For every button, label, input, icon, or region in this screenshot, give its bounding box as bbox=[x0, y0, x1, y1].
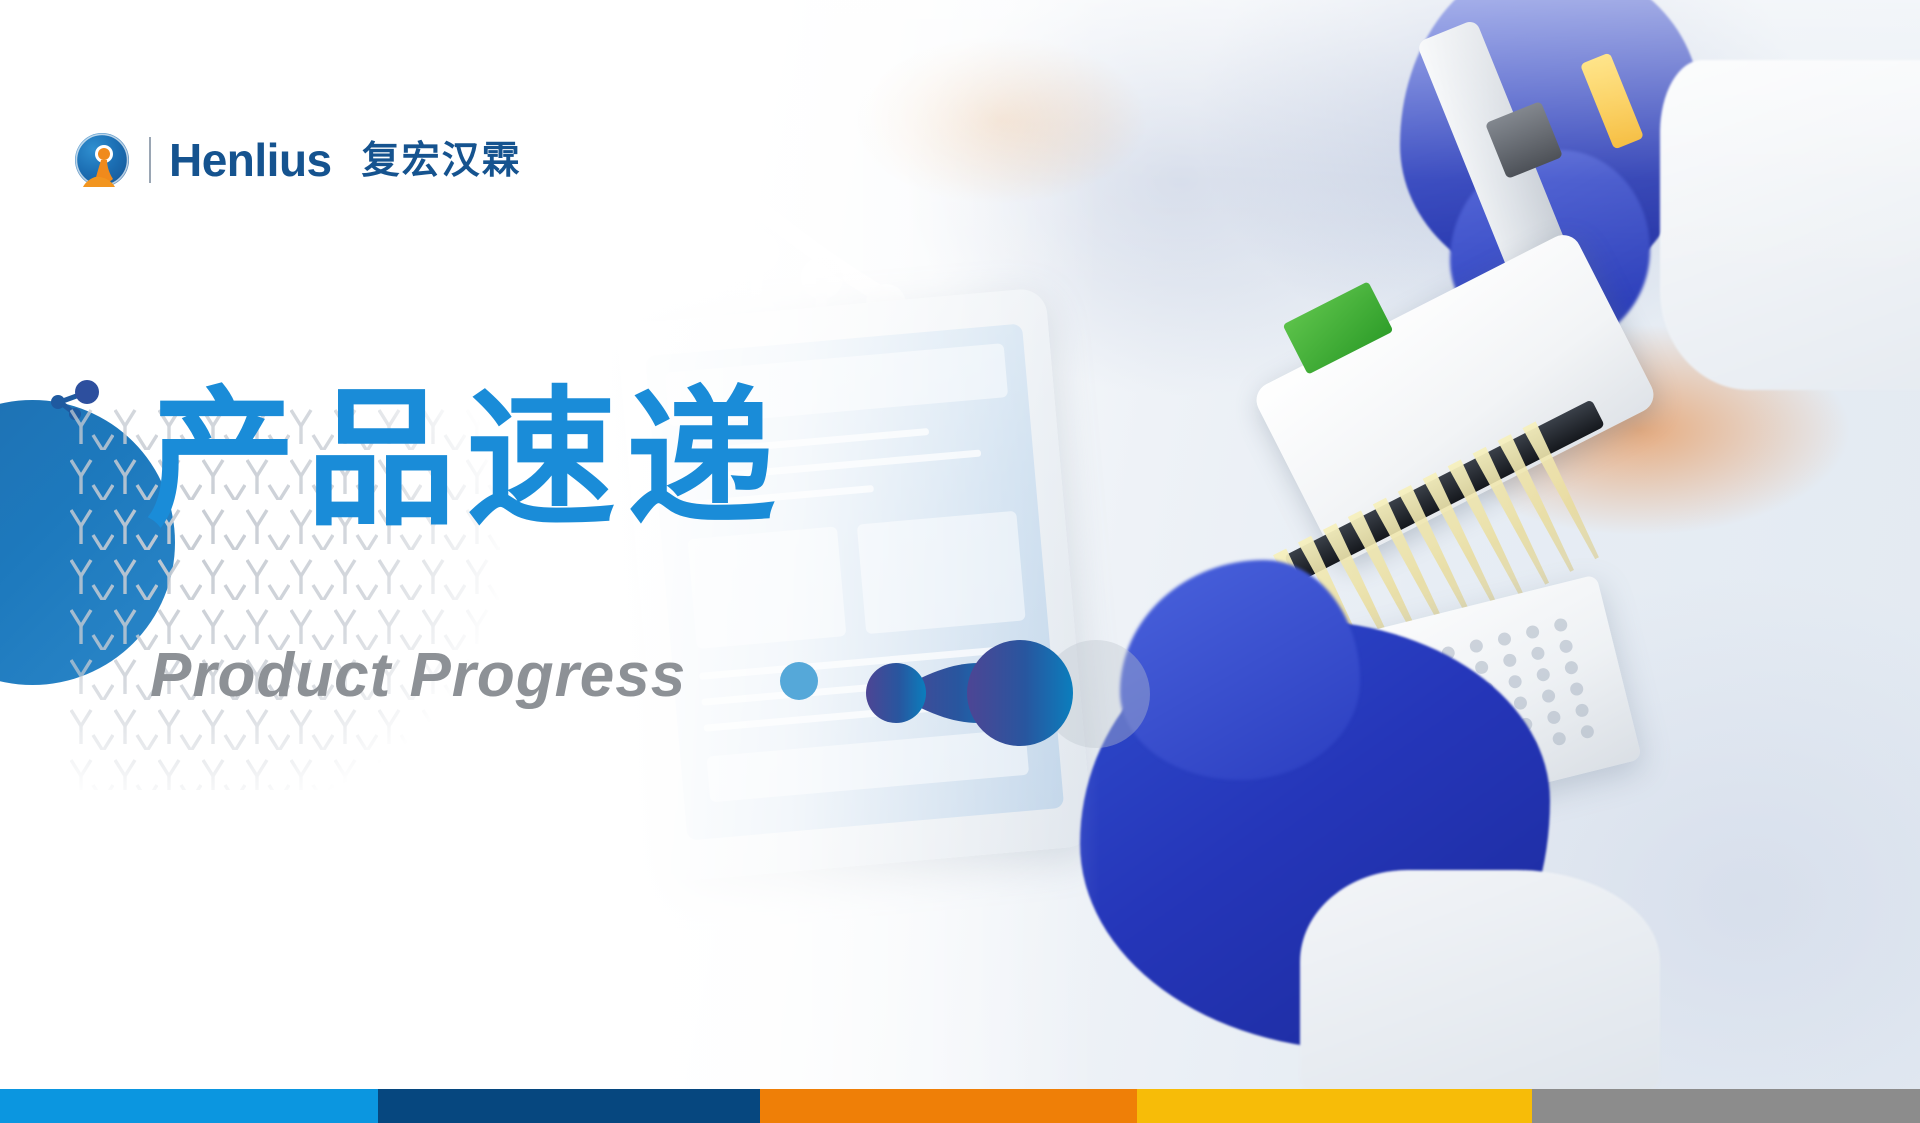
microplate-well bbox=[1551, 731, 1567, 747]
henlius-emblem-icon bbox=[75, 133, 129, 187]
molecule-dot-light bbox=[780, 662, 818, 700]
cover-slide: Henlius 复宏汉霖 产品速递 Product Progress bbox=[0, 0, 1920, 1123]
lab-coat-sleeve-lower bbox=[1300, 870, 1660, 1100]
segment-gray bbox=[1532, 1089, 1920, 1123]
microplate-well bbox=[1564, 660, 1580, 676]
microplate-well bbox=[1530, 645, 1546, 661]
microplate-well bbox=[1502, 652, 1518, 668]
microplate-well bbox=[1569, 681, 1585, 697]
segment-amber bbox=[1137, 1089, 1533, 1123]
microplate-well bbox=[1541, 688, 1557, 704]
microplate-well bbox=[1546, 710, 1562, 726]
microplate-well bbox=[1468, 638, 1484, 654]
logo-divider bbox=[149, 137, 151, 183]
microplate-well bbox=[1574, 702, 1590, 718]
microplate-well bbox=[1558, 638, 1574, 654]
microplate-well bbox=[1553, 617, 1569, 633]
page-subtitle: Product Progress bbox=[150, 645, 686, 707]
segment-light-blue bbox=[0, 1089, 378, 1123]
page-title: 产品速递 bbox=[146, 385, 786, 535]
microplate-well bbox=[1579, 724, 1595, 740]
segment-orange bbox=[760, 1089, 1136, 1123]
logo-chinese-text: 复宏汉霖 bbox=[362, 141, 522, 179]
brand-logo[interactable]: Henlius 复宏汉霖 bbox=[75, 133, 522, 187]
microplate-well bbox=[1497, 631, 1513, 647]
microplate-well bbox=[1535, 667, 1551, 683]
bottom-color-bar bbox=[0, 1089, 1920, 1123]
molecule-link-icon bbox=[860, 638, 1120, 748]
microplate-well bbox=[1525, 624, 1541, 640]
segment-dark-blue bbox=[378, 1089, 760, 1123]
logo-english-text: Henlius bbox=[169, 137, 332, 183]
microplate-well bbox=[1507, 674, 1523, 690]
